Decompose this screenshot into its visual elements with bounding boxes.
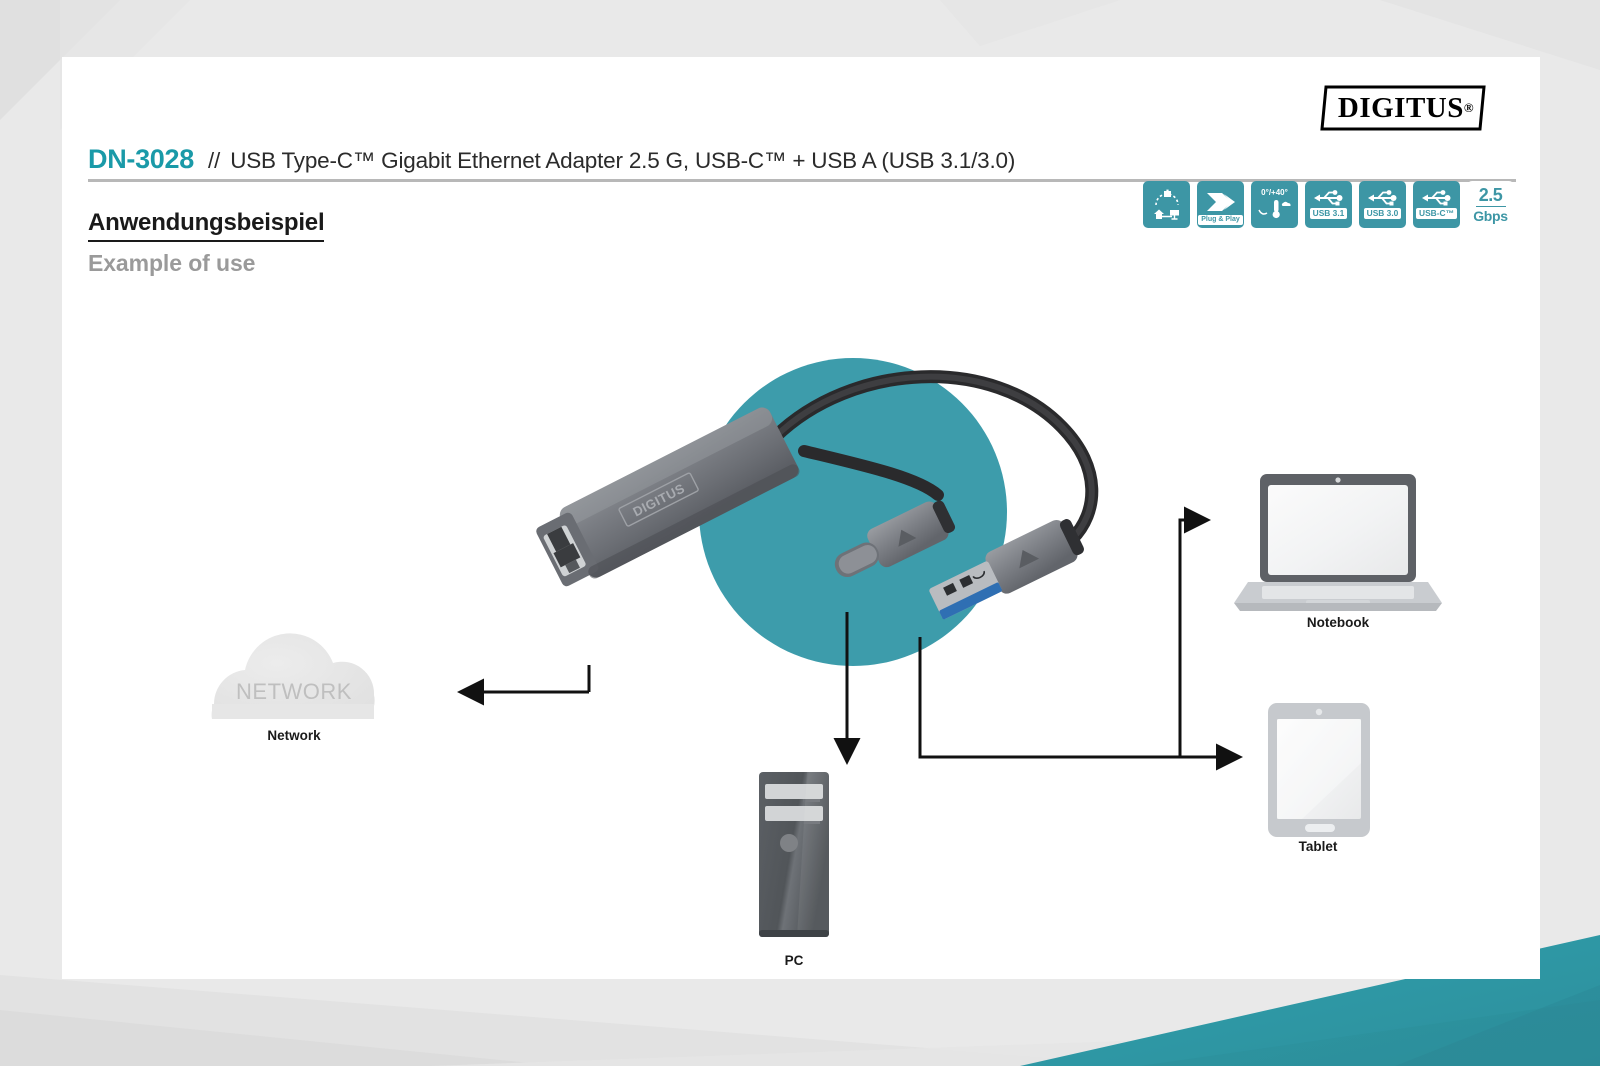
section-heading-de: Anwendungsbeispiel [88, 209, 324, 242]
product-sku: DN-3028 [88, 144, 194, 175]
logo-wordmark: DIGITUS® [1320, 85, 1486, 131]
usb-icon: USB-C™ [1413, 181, 1460, 228]
notebook-node [1234, 474, 1442, 611]
pc-node [759, 772, 829, 937]
product-circle-backdrop [699, 358, 1007, 666]
speed-badge: 2.5 Gbps [1467, 181, 1514, 228]
usb-icon: USB 3.1 [1305, 181, 1352, 228]
tablet-node [1268, 703, 1370, 837]
digitus-logo: DIGITUS® [1320, 85, 1486, 131]
home-network-icon [1143, 181, 1190, 228]
feature-badge-row: Plug & Play 0°/+40° USB 3.1 [1143, 181, 1514, 228]
plug-and-play-icon: Plug & Play [1197, 181, 1244, 228]
usb-icon-caption: USB 3.0 [1364, 208, 1402, 219]
logo-name: DIGITUS [1338, 92, 1464, 125]
notebook-node-label: Notebook [1307, 615, 1369, 630]
tablet-node-label: Tablet [1299, 839, 1338, 854]
network-node: NETWORK [212, 633, 375, 719]
network-node-label: Network [267, 728, 320, 743]
content-card: DIGITUS® DN-3028 // USB Type-C™ Gigabit … [62, 57, 1540, 979]
page-title: USB Type-C™ Gigabit Ethernet Adapter 2.5… [230, 148, 1015, 174]
temperature-range-caption: 0°/+40° [1261, 189, 1288, 197]
usb-icon: USB 3.0 [1359, 181, 1406, 228]
network-inner-label: NETWORK [236, 679, 352, 704]
product-title-row: DN-3028 // USB Type-C™ Gigabit Ethernet … [88, 144, 1514, 175]
pc-node-label: PC [785, 953, 804, 968]
plug-and-play-caption: Plug & Play [1198, 215, 1243, 225]
speed-value: 2.5 [1479, 186, 1503, 204]
usb-icon-caption: USB 3.1 [1310, 208, 1348, 219]
title-separator: // [208, 148, 220, 174]
usb-icon-caption: USB-C™ [1416, 208, 1457, 219]
speed-unit: Gbps [1473, 209, 1508, 223]
temperature-range-icon: 0°/+40° [1251, 181, 1298, 228]
connector-network [460, 665, 589, 692]
usage-diagram: DIGITUS [62, 267, 1540, 979]
